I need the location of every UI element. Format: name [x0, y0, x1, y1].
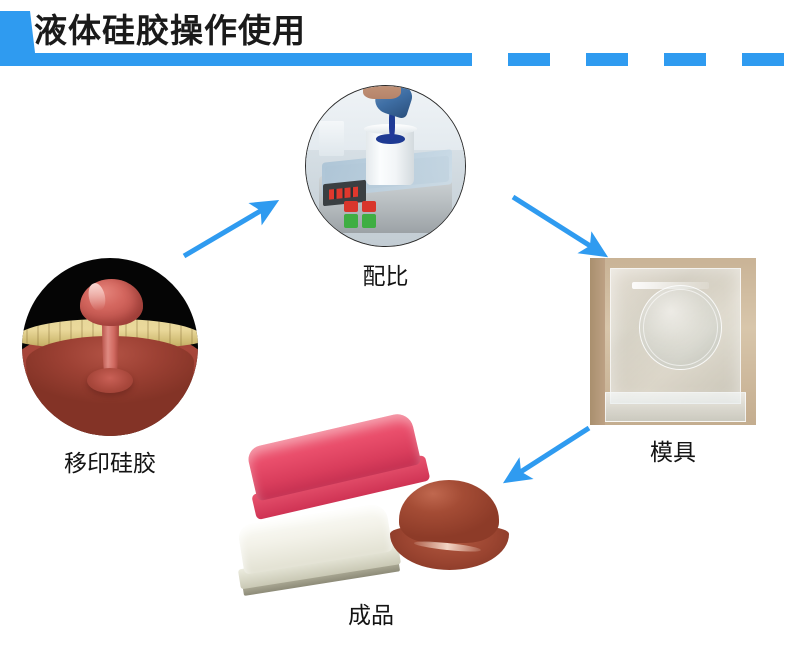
product-dome-pad-body	[399, 480, 499, 543]
flow-step-silicone: 移印硅胶	[22, 258, 198, 436]
caption-mold: 模具	[590, 433, 756, 467]
ratio-scale-button-green-1	[344, 214, 358, 228]
mold-table-edge	[590, 258, 605, 425]
caption-ratio: 配比	[305, 257, 466, 291]
mold-acrylic-block	[610, 268, 741, 404]
arrow-mold-to-products	[492, 418, 607, 498]
mold-photo	[590, 258, 756, 425]
header-divider-bar	[0, 53, 800, 66]
flow-step-ratio: 配比	[305, 85, 466, 247]
caption-products: 成品	[236, 596, 506, 630]
silicone-photo	[22, 258, 198, 436]
ratio-photo	[305, 85, 466, 247]
arrow-silicone-to-ratio	[175, 190, 295, 270]
arrow-ratio-to-mold	[505, 188, 625, 273]
ratio-scale-button-red-1	[344, 201, 358, 212]
ratio-scale-button-green-2	[362, 214, 376, 228]
slide-canvas: 液体硅胶操作使用 移印硅胶	[0, 0, 800, 650]
mold-cavity-inner-ring	[643, 289, 718, 366]
header-bar-dashed-segment	[472, 53, 800, 66]
flow-step-mold: 模具	[590, 258, 756, 425]
ratio-background-jar	[319, 121, 344, 156]
silicone-ripple	[87, 368, 133, 393]
ratio-scale-button-red-2	[362, 201, 376, 212]
header-bar-solid-segment	[0, 53, 472, 66]
page-title: 液体硅胶操作使用	[34, 8, 306, 54]
product-dome-pad	[390, 480, 509, 575]
flow-step-products: 成品	[236, 426, 506, 596]
ratio-hand	[363, 85, 401, 99]
caption-silicone: 移印硅胶	[22, 444, 198, 478]
mold-base-plate	[605, 392, 746, 422]
